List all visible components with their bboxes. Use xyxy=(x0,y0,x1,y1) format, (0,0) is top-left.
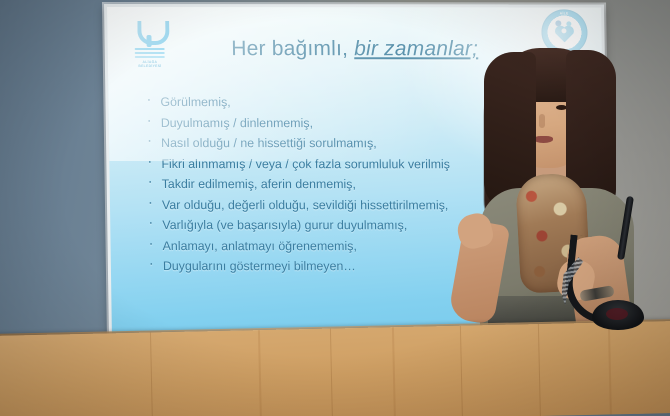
wooden-podium xyxy=(0,321,670,416)
logo-left-caption-line2: BELEDİYESİ xyxy=(128,64,172,68)
microphone-base xyxy=(592,300,644,330)
presenter-nose xyxy=(539,114,545,128)
presenter-mouth xyxy=(534,136,553,143)
logo-arc-top: AİLE xyxy=(541,11,587,15)
logo-left-caption: ALİAĞA BELEDİYESİ xyxy=(128,60,172,69)
slide-title-plain: Her bağımlı, xyxy=(231,37,348,60)
presentation-scene: ALİAĞA BELEDİYESİ AİLE DANIŞMA MERKEZİ xyxy=(0,0,670,416)
slide-title-emphasis: bir zamanlar; xyxy=(354,37,478,60)
